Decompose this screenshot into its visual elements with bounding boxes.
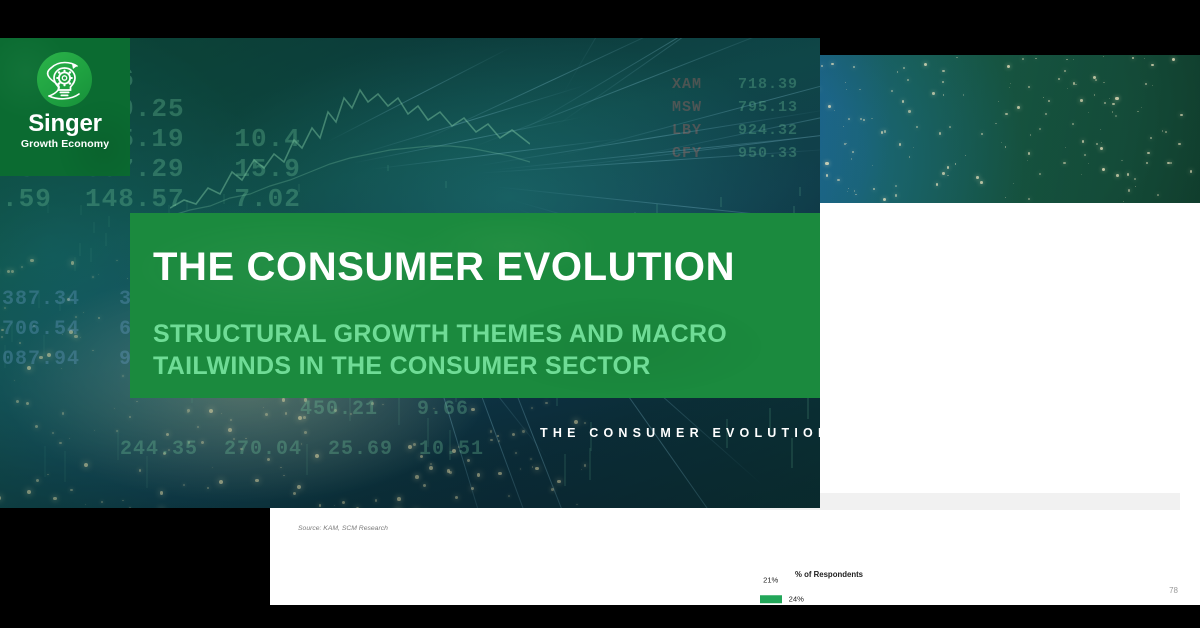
brand-logo-panel[interactable]: Singer Growth Economy [0, 38, 130, 176]
ticker-number: .59 148.57 7.02 [2, 184, 301, 214]
chart-bar-value: 21% [763, 576, 778, 585]
chart-bar-value: 24% [789, 595, 804, 604]
ticker-number: 244.35 270.04 25.69 10.51 [120, 438, 484, 461]
letterbox-left-lower [0, 508, 270, 628]
page-subtitle: STRUCTURAL GROWTH THEMES AND MACRO TAILW… [153, 318, 803, 382]
ticker-number: 387.34 39 [2, 288, 145, 311]
ticker-symbol-value: 950.33 [738, 145, 798, 162]
ticker-number: 450.21 9.66 [300, 398, 469, 421]
page-title: THE CONSUMER EVOLUTION [153, 247, 735, 287]
chart-source-left: Source: KAM, SCM Research [298, 525, 388, 532]
letterbox-top [0, 0, 1200, 38]
ticker-symbol: MSW [672, 99, 702, 116]
cover-kicker: THE CONSUMER EVOLUTION [540, 426, 820, 440]
brand-name: Singer [0, 110, 130, 138]
page-number: 78 [1169, 586, 1178, 595]
ticker-symbol-value: 718.39 [738, 76, 798, 93]
ticker-symbol: XAM [672, 76, 702, 93]
ticker-symbol: CFY [672, 145, 702, 162]
title-block: THE CONSUMER EVOLUTION STRUCTURAL GROWTH… [130, 213, 820, 398]
ticker-symbol: LBY [672, 122, 702, 139]
brand-tagline: Growth Economy [0, 138, 130, 150]
ticker-symbol-value: 924.32 [738, 122, 798, 139]
screenshot-stage: end their leisure time. In an era of sel… [0, 0, 1200, 628]
ticker-number: 706.54 65 [2, 318, 145, 341]
lightbulb-gear-icon [37, 52, 92, 107]
ticker-symbol-value: 795.13 [738, 99, 798, 116]
